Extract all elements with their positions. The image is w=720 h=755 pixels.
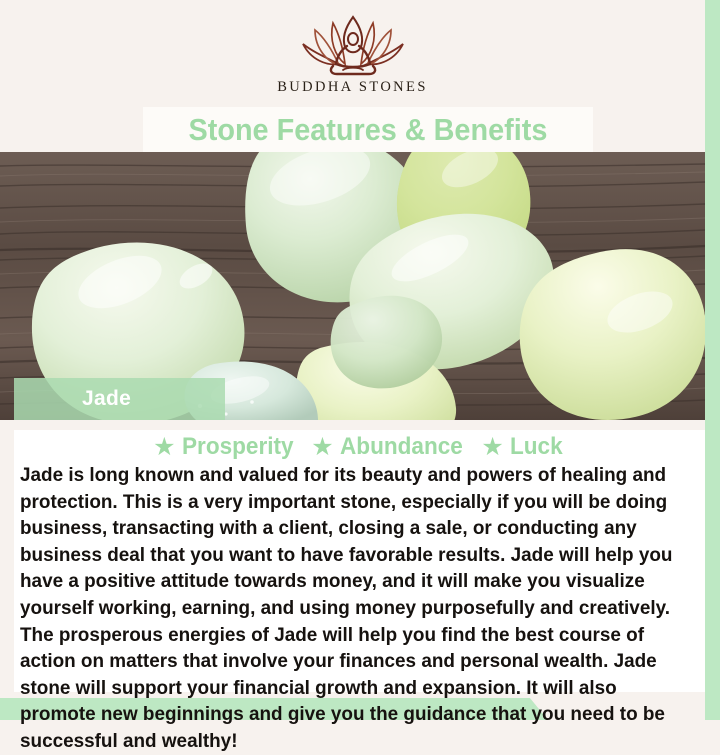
- benefit-label: Abundance: [340, 433, 463, 461]
- benefit-label: Prosperity: [182, 433, 294, 461]
- benefit-item-luck: ★ Luck: [481, 433, 565, 461]
- benefit-item-abundance: ★ Abundance: [311, 433, 470, 461]
- jade-stones-photo: Jade: [0, 152, 705, 420]
- description-panel: Jade is long known and valued for its be…: [14, 462, 705, 692]
- lotus-meditation-icon: [297, 14, 409, 76]
- frame-right-band: [705, 0, 720, 720]
- brand-name: BUDDHA STONES: [277, 79, 428, 96]
- star-icon: ★: [153, 435, 175, 460]
- benefits-row: ★ Prosperity ★ Abundance ★ Luck: [14, 430, 705, 464]
- benefit-label: Luck: [510, 433, 563, 461]
- photo-caption-bar: Jade: [14, 378, 225, 420]
- description-text: Jade is long known and valued for its be…: [20, 462, 684, 755]
- star-icon: ★: [311, 435, 333, 460]
- star-icon: ★: [481, 435, 503, 460]
- section-title-band: Stone Features & Benefits: [143, 107, 593, 152]
- benefit-item-prosperity: ★ Prosperity: [153, 433, 300, 461]
- page-title: Stone Features & Benefits: [189, 112, 548, 148]
- stone-name-label: Jade: [82, 387, 131, 411]
- brand-header: BUDDHA STONES: [0, 0, 705, 107]
